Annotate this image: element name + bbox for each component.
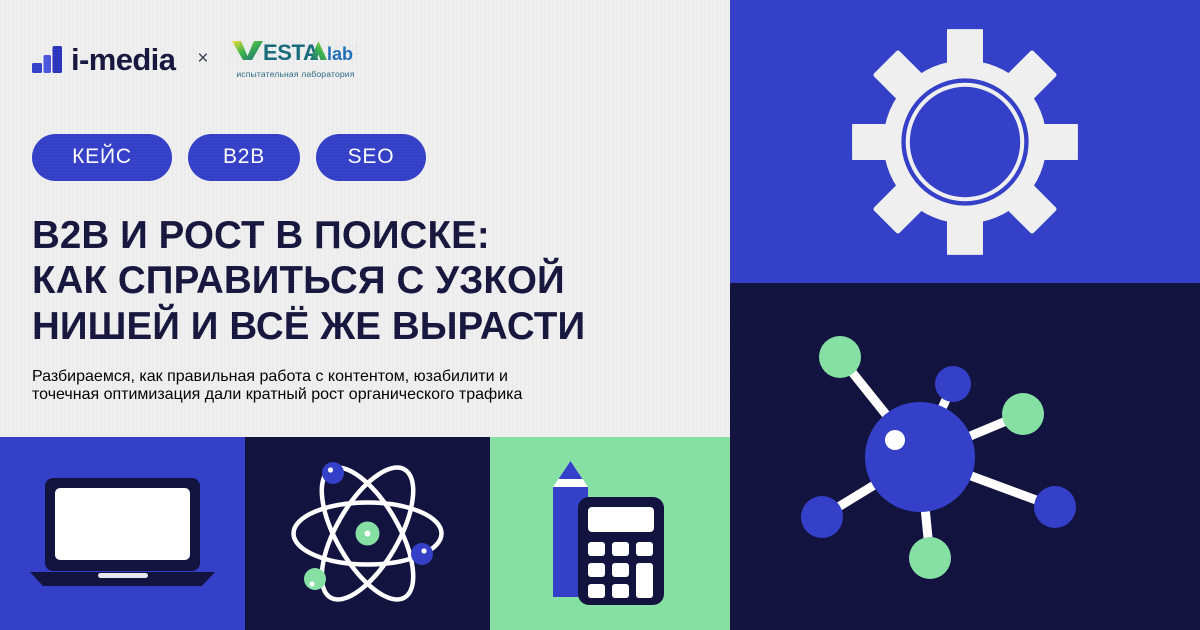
network-node-4 bbox=[1034, 486, 1076, 528]
imedia-bars-icon bbox=[32, 46, 62, 73]
atom-electron-2 bbox=[411, 543, 433, 565]
gear-icon bbox=[845, 22, 1085, 262]
gear-panel bbox=[730, 0, 1200, 283]
logo-row: i-media × bbox=[32, 36, 700, 82]
imedia-wordmark: i-media bbox=[71, 44, 175, 75]
tag-b2b[interactable]: B2B bbox=[188, 134, 300, 181]
network-hub-icon bbox=[765, 302, 1165, 612]
headline-line-1: B2B И РОСТ В ПОИСКЕ: bbox=[32, 213, 700, 258]
content-panel: i-media × bbox=[0, 0, 730, 437]
subtitle-line-2: точечная оптимизация дали кратный рост о… bbox=[32, 386, 700, 404]
subtitle-line-1: Разбираемся, как правильная работа с кон… bbox=[32, 368, 700, 386]
headline-line-2: КАК СПРАВИТЬСЯ С УЗКОЙ bbox=[32, 258, 700, 303]
laptop-icon bbox=[30, 474, 215, 594]
network-node-3 bbox=[1002, 393, 1044, 435]
laptop-panel bbox=[0, 437, 245, 630]
vestalab-wordmark-icon: ESTA lab bbox=[230, 39, 360, 70]
network-node-2 bbox=[935, 366, 971, 402]
banner-root: i-media × bbox=[0, 0, 1200, 630]
atom-icon bbox=[285, 451, 450, 616]
imedia-logo[interactable]: i-media bbox=[32, 44, 175, 75]
tag-seo[interactable]: SEO bbox=[316, 134, 426, 181]
vestalab-logo[interactable]: ESTA lab испытательная лаборатория bbox=[230, 39, 360, 79]
network-hub-dot bbox=[885, 430, 905, 450]
headline-line-3: НИШЕЙ И ВСЁ ЖЕ ВЫРАСТИ bbox=[32, 304, 700, 349]
network-node-1 bbox=[819, 336, 861, 378]
calculator-display bbox=[588, 507, 654, 532]
calculator-body bbox=[578, 497, 664, 605]
network-node-5 bbox=[801, 496, 843, 538]
calculator-pencil-icon bbox=[530, 459, 690, 609]
network-hub bbox=[865, 402, 975, 512]
atom-panel bbox=[245, 437, 490, 630]
page-title: B2B И РОСТ В ПОИСКЕ: КАК СПРАВИТЬСЯ С УЗ… bbox=[32, 213, 700, 349]
atom-electron-3 bbox=[304, 568, 326, 590]
network-panel bbox=[730, 283, 1200, 630]
svg-text:ESTA: ESTA bbox=[263, 40, 319, 65]
tag-keys[interactable]: КЕЙС bbox=[32, 134, 172, 181]
network-node-6 bbox=[909, 537, 951, 579]
tag-list: КЕЙС B2B SEO bbox=[32, 134, 700, 181]
vestalab-tagline: испытательная лаборатория bbox=[236, 69, 354, 79]
calculator-panel bbox=[490, 437, 730, 630]
atom-electron-1 bbox=[322, 462, 344, 484]
svg-text:lab: lab bbox=[327, 44, 353, 64]
logo-separator-x: × bbox=[197, 48, 208, 70]
